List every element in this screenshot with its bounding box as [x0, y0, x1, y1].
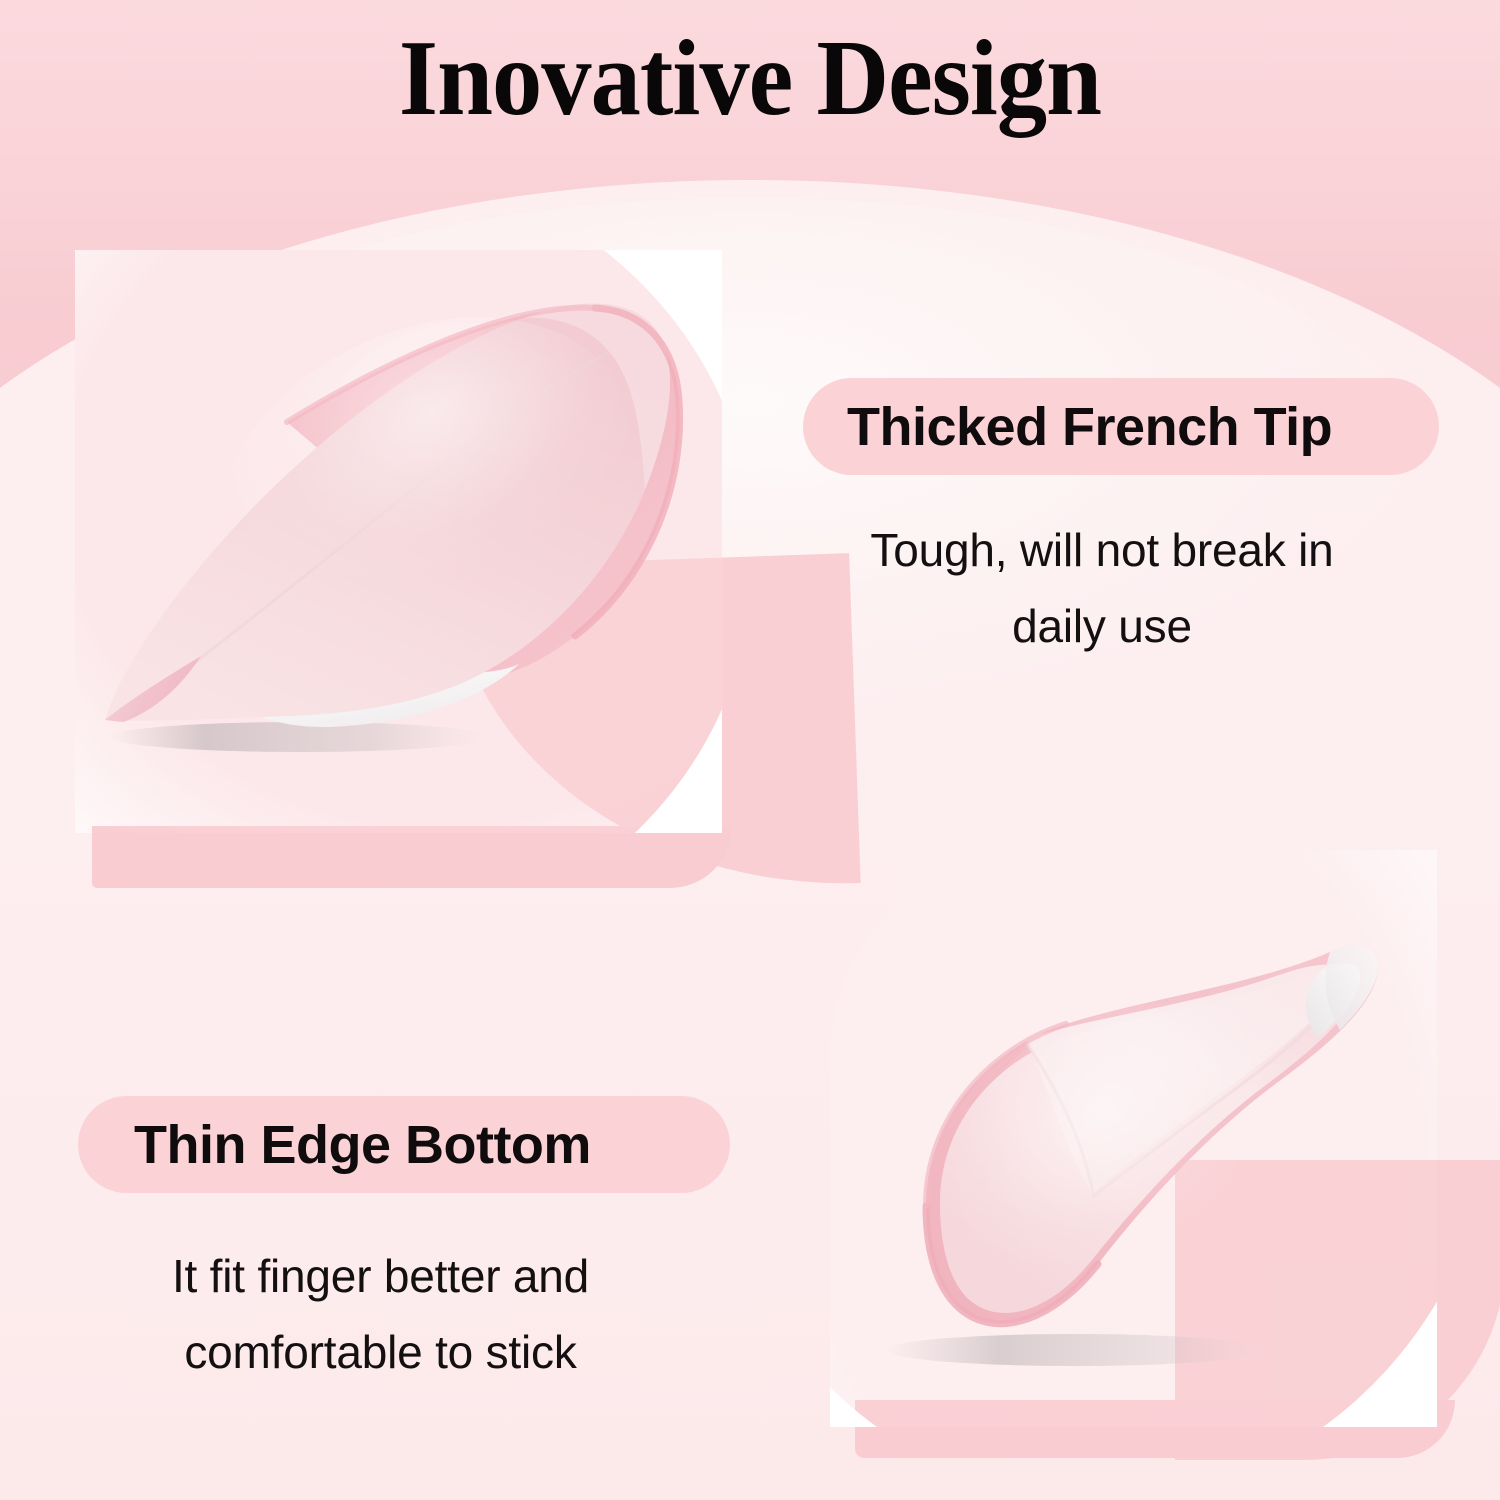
nail-tip-illustration-1 [75, 250, 722, 833]
description-line: It fit finger better and [108, 1238, 653, 1314]
description-line: daily use [828, 588, 1376, 664]
infographic-stage: Inovative Design [0, 0, 1500, 1500]
nail-tip-illustration-2 [830, 850, 1437, 1427]
badge-label: Thin Edge Bottom [134, 1114, 591, 1176]
badge-label: Thicked French Tip [847, 396, 1332, 458]
nail-tip-underside-photo [830, 850, 1437, 1427]
badge-thin-edge-bottom: Thin Edge Bottom [78, 1096, 730, 1193]
page-title: Inovative Design [53, 19, 1448, 139]
description-thicked-french-tip: Tough, will not break in daily use [828, 512, 1376, 664]
description-line: comfortable to stick [108, 1314, 653, 1390]
description-thin-edge-bottom: It fit finger better and comfortable to … [108, 1238, 653, 1390]
decorative-petal-shadow-1 [92, 826, 732, 888]
nail-tip-profile-photo [75, 250, 722, 833]
badge-thicked-french-tip: Thicked French Tip [803, 378, 1439, 475]
description-line: Tough, will not break in [828, 512, 1376, 588]
